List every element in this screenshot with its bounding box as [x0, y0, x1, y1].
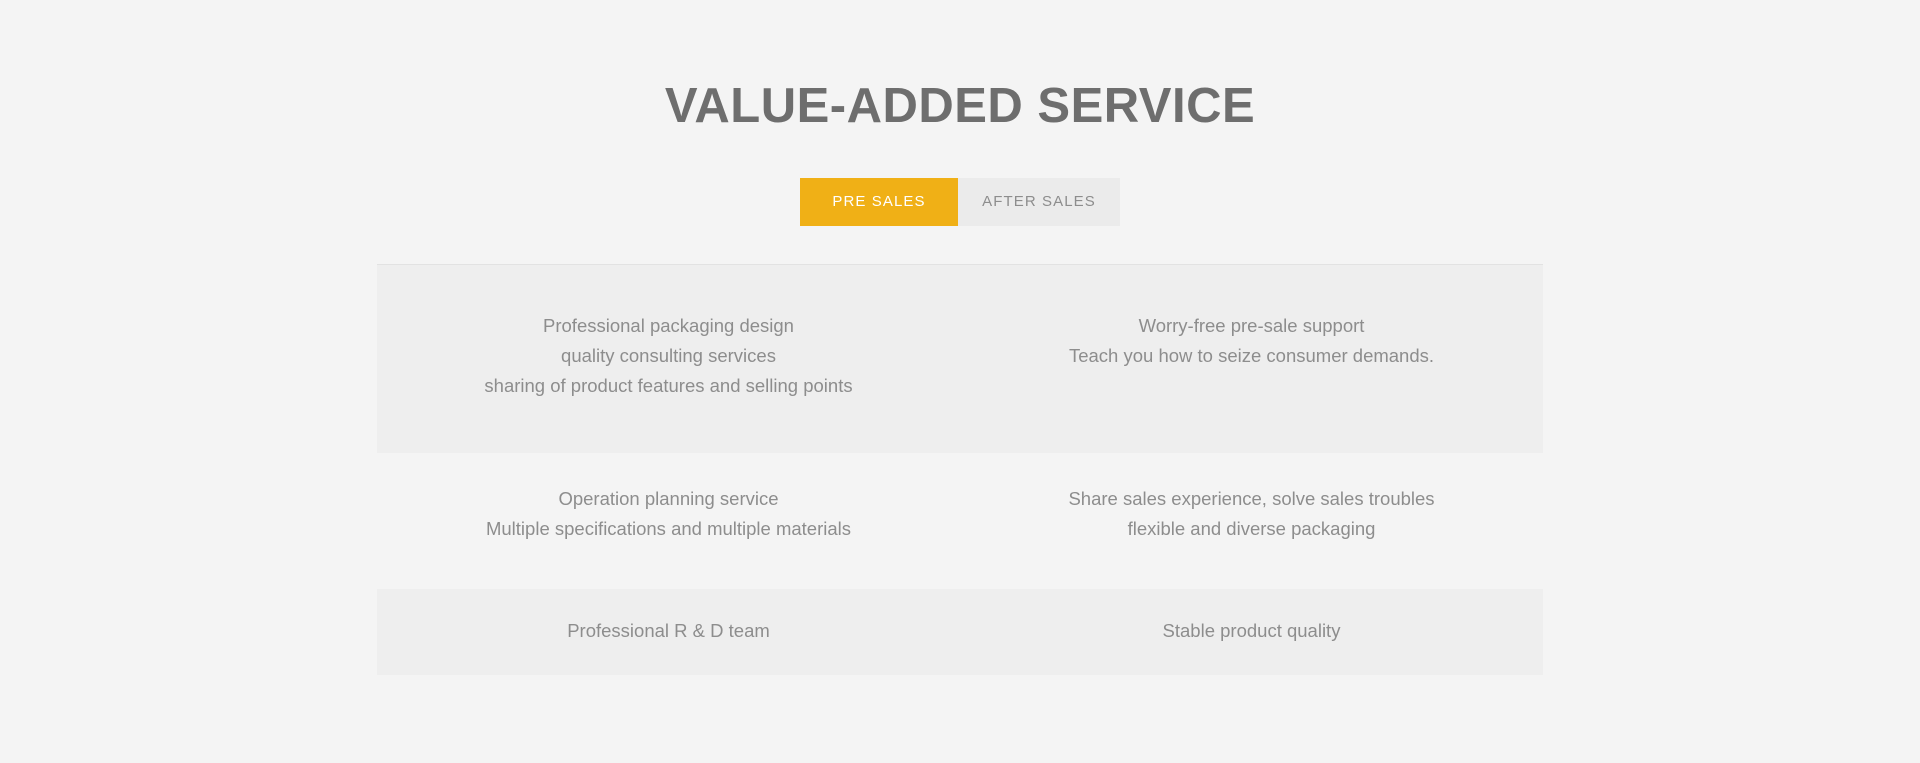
table-cell-left: Operation planning service Multiple spec…	[377, 453, 960, 589]
table-cell-right: Worry-free pre-sale support Teach you ho…	[960, 265, 1543, 453]
table-cell-left: Professional packaging design quality co…	[377, 265, 960, 453]
value-added-service-section: VALUE-ADDED SERVICE PRE SALES AFTER SALE…	[0, 0, 1920, 763]
tab-pre-sales[interactable]: PRE SALES	[800, 178, 958, 226]
cell-line: Professional packaging design	[543, 311, 794, 341]
cell-line: quality consulting services	[561, 341, 776, 371]
table-row: Professional packaging design quality co…	[377, 265, 1543, 453]
tab-after-sales[interactable]: AFTER SALES	[958, 178, 1120, 226]
cell-line: Share sales experience, solve sales trou…	[1068, 484, 1434, 514]
table-cell-left: Professional R & D team	[377, 589, 960, 675]
table-cell-right: Stable product quality	[960, 589, 1543, 675]
cell-line: Multiple specifications and multiple mat…	[486, 514, 851, 544]
page-title: VALUE-ADDED SERVICE	[0, 75, 1920, 137]
cell-line: Teach you how to seize consumer demands.	[1069, 341, 1434, 371]
table-cell-right: Share sales experience, solve sales trou…	[960, 453, 1543, 589]
cell-line: Stable product quality	[1163, 616, 1341, 646]
cell-line: flexible and diverse packaging	[1128, 514, 1376, 544]
table-row: Professional R & D team Stable product q…	[377, 589, 1543, 675]
cell-line: Operation planning service	[558, 484, 778, 514]
cell-line: Professional R & D team	[567, 616, 770, 646]
table-row: Operation planning service Multiple spec…	[377, 453, 1543, 589]
cell-line: Worry-free pre-sale support	[1139, 311, 1365, 341]
service-tabs: PRE SALES AFTER SALES	[0, 178, 1920, 226]
cell-line: sharing of product features and selling …	[484, 371, 852, 401]
service-table: Professional packaging design quality co…	[377, 264, 1543, 675]
